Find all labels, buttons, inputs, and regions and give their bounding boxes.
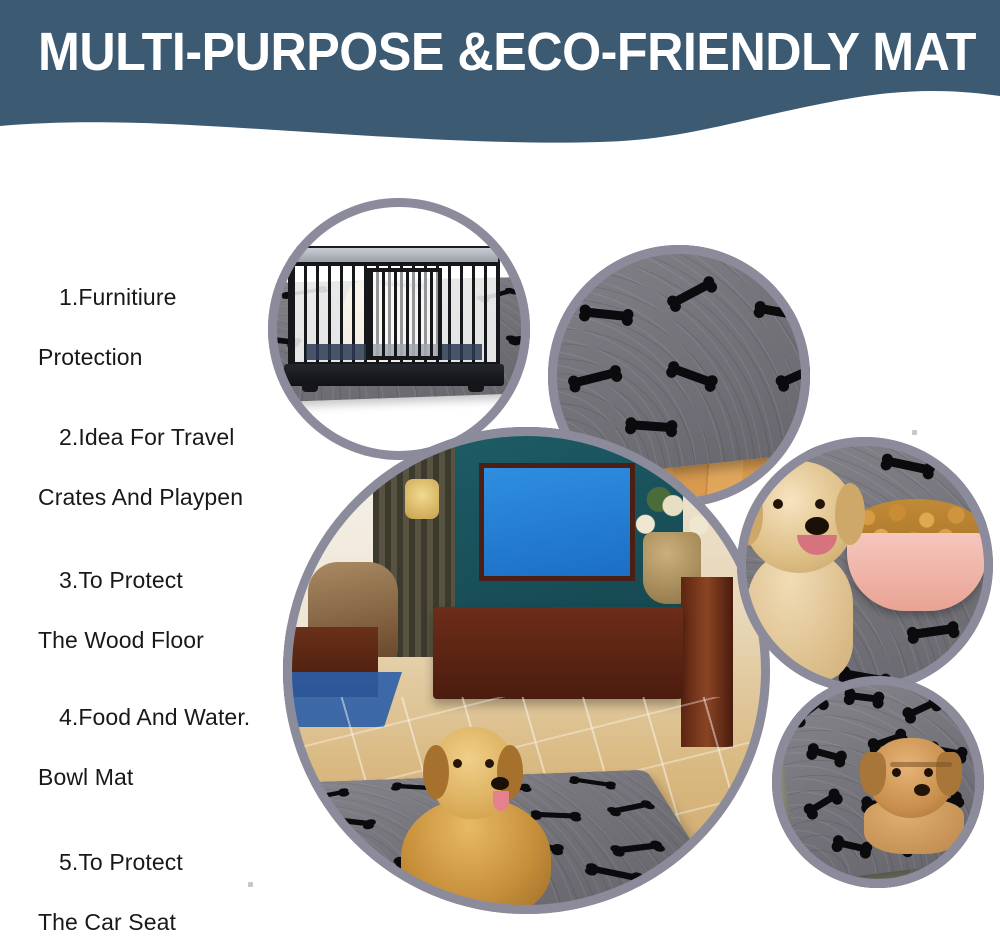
photo-circle-food-bowl xyxy=(737,437,993,693)
bowl-dog-mouth xyxy=(797,535,837,555)
photo-collage xyxy=(0,0,1000,946)
bowl-dog xyxy=(737,461,875,681)
photo-circle-living-room xyxy=(283,427,770,914)
infographic-page: MULTI-PURPOSE &ECO-FRIENDLY MAT 1.Furnit… xyxy=(0,0,1000,946)
bowl-dog-nose xyxy=(805,517,829,535)
tv-console xyxy=(433,607,683,699)
photo-circle-crate xyxy=(268,198,530,460)
image-artifact-speck-2 xyxy=(912,430,917,435)
puppy-eye-left xyxy=(892,768,901,777)
living-room-photo xyxy=(283,427,770,914)
crate-scene xyxy=(268,202,530,458)
food-bowl-photo xyxy=(737,437,993,693)
car-seat-photo xyxy=(772,676,984,888)
table-lamp xyxy=(405,479,439,519)
crate-door xyxy=(366,268,442,360)
puppy-ear-right xyxy=(936,752,962,796)
golden-retriever xyxy=(401,727,551,914)
puppy-ear-left xyxy=(860,752,886,796)
photo-circle-car-seat xyxy=(772,676,984,888)
dog-tongue xyxy=(493,791,509,811)
dog-ear-left xyxy=(423,745,449,799)
puppy-wrinkle xyxy=(890,762,952,767)
dog-nose xyxy=(491,777,509,790)
crate-photo xyxy=(268,198,530,460)
puppy-nose xyxy=(914,784,930,796)
image-artifact-speck xyxy=(248,882,253,887)
dog-crate xyxy=(288,246,500,378)
bowl-dog-ear-right xyxy=(835,483,865,545)
bowl-dog-eye-left xyxy=(773,499,783,509)
bowl-dog-eye-right xyxy=(815,499,825,509)
bowl-dog-ear-left xyxy=(737,483,763,545)
bulldog-puppy xyxy=(858,738,970,848)
dog-eye-right xyxy=(485,759,494,768)
dog-head xyxy=(431,727,515,819)
puppy-head xyxy=(868,738,954,818)
bowl-dog-head xyxy=(743,461,855,573)
living-room-scene xyxy=(283,427,770,914)
dog-eye-left xyxy=(453,759,462,768)
tv-screen xyxy=(479,463,635,581)
puppy-eye-right xyxy=(924,768,933,777)
